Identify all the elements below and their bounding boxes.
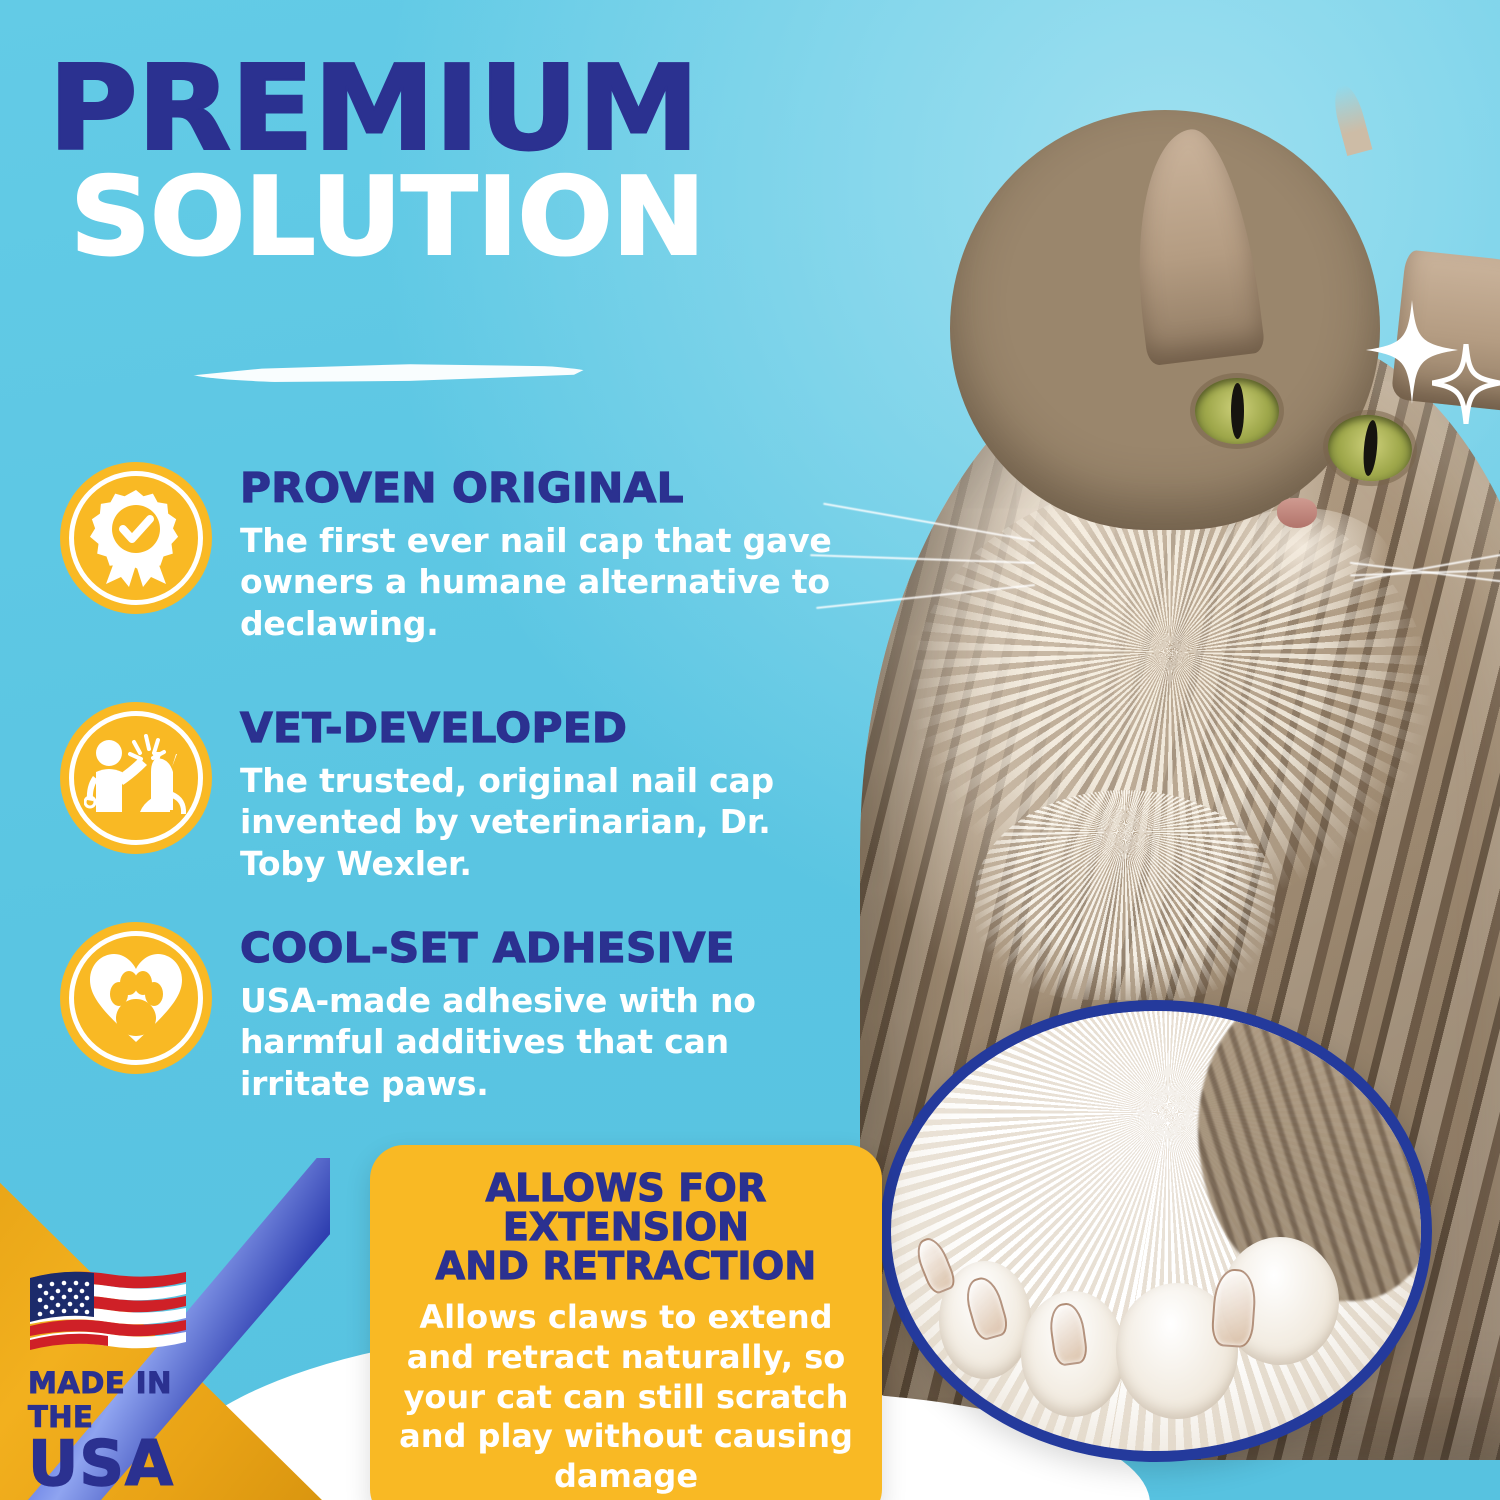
callout-extension-retraction: ALLOWS FOR EXTENSION AND RETRACTION Allo… [370,1145,882,1500]
cat-paw-closeup [880,1000,1432,1462]
sparkle-star-small-icon [1432,344,1500,424]
feature-text: PROVEN ORIGINAL The first ever nail cap … [240,462,840,645]
callout-title-line-1: ALLOWS FOR EXTENSION [392,1169,860,1247]
feature-vet-developed: VET-DEVELOPED The trusted, original nail… [60,702,850,885]
made-in-usa-line-1: MADE IN THE [28,1366,228,1434]
usa-flag-icon [28,1262,188,1354]
heart-paw-icon [60,922,212,1074]
made-in-usa-badge: MADE IN THE USA [28,1262,228,1494]
cat-eye-left [1195,378,1279,444]
headline-line-1: PREMIUM [48,54,870,163]
made-in-usa-line-2: USA [28,1434,228,1494]
feature-title: COOL-SET ADHESIVE [240,928,858,970]
callout-title-line-2: AND RETRACTION [392,1247,860,1286]
cat-nose [1277,498,1317,528]
feature-text: COOL-SET ADHESIVE USA-made adhesive with… [240,922,840,1105]
feature-proven-original: PROVEN ORIGINAL The first ever nail cap … [60,462,840,645]
cat-ear-tuft [1329,82,1372,156]
cat-ear-left [1120,124,1265,367]
swoosh-underline [190,362,590,384]
feature-title: VET-DEVELOPED [240,708,868,750]
feature-description: The first ever nail cap that gave owners… [240,520,840,645]
award-badge-check-icon [60,462,212,614]
headline-block: PREMIUM SOLUTION [48,54,838,269]
feature-description: USA-made adhesive with no harmful additi… [240,980,840,1105]
product-infographic: PREMIUM SOLUTION PROVEN ORIGINAL The fir… [0,0,1500,1500]
cat-head [950,110,1380,530]
callout-body: Allows claws to extend and retract natur… [392,1298,860,1496]
feature-description: The trusted, original nail cap invented … [240,760,850,885]
feature-title: PROVEN ORIGINAL [240,468,858,510]
headline-line-2: SOLUTION [70,167,869,270]
feature-cool-set-adhesive: COOL-SET ADHESIVE USA-made adhesive with… [60,922,840,1105]
cat-front-paw [975,790,1275,1000]
feature-text: VET-DEVELOPED The trusted, original nail… [240,702,850,885]
vet-high-five-cat-icon [60,702,212,854]
